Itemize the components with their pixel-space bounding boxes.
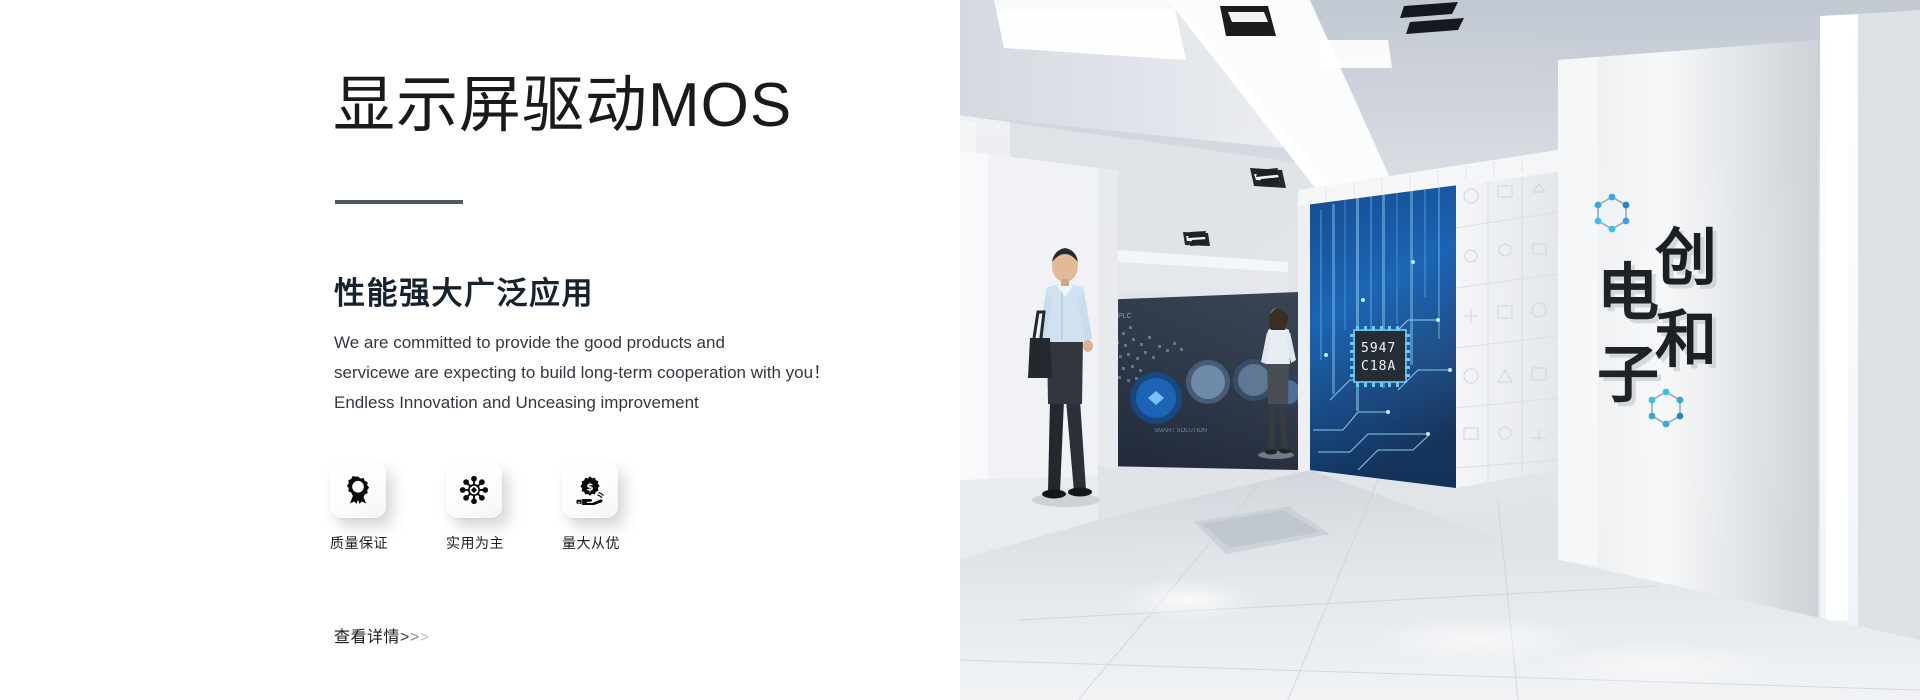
feature-badge[interactable]: $	[562, 462, 618, 518]
svg-text:$: $	[586, 481, 593, 493]
description-line-3: Endless Innovation and Unceasing improve…	[334, 388, 874, 418]
title-divider	[335, 200, 463, 204]
feature-label: 量大从优	[562, 533, 622, 553]
feature-item-quality[interactable]: 质量保证	[330, 462, 390, 553]
chevron-right-icon-2: >	[410, 629, 420, 647]
hand-holding-coin-icon: $	[575, 475, 605, 505]
award-ribbon-icon	[343, 475, 373, 505]
description-paragraph: We are committed to provide the good pro…	[334, 328, 874, 418]
feature-badge[interactable]	[446, 462, 502, 518]
subtitle: 性能强大广泛应用	[334, 268, 594, 313]
chevron-right-icon-3: >	[420, 629, 430, 647]
feature-item-practical[interactable]: 实用为主	[446, 462, 506, 553]
chevron-right-icon-1: >	[400, 629, 410, 647]
view-details-label: 查看详情	[334, 623, 400, 647]
description-line-1: We are committed to provide the good pro…	[334, 328, 874, 358]
feature-label: 质量保证	[330, 533, 390, 553]
feature-item-bulk-discount[interactable]: $ 量大从优	[562, 462, 622, 553]
description-line-2: servicewe are expecting to build long-te…	[334, 358, 874, 388]
view-details-link[interactable]: 查看详情 > > >	[334, 623, 430, 647]
text-panel: 显示屏驱动MOS 性能强大广泛应用 We are committed to pr…	[0, 0, 960, 700]
page-title: 显示屏驱动MOS	[333, 72, 792, 140]
showroom-interior-photo: PLC SMART SOLUTION	[958, 0, 1920, 700]
feature-list: 质量保证	[330, 462, 622, 553]
feature-label: 实用为主	[446, 533, 506, 553]
network-hub-icon	[459, 475, 489, 505]
hero-banner: PLC SMART SOLUTION	[0, 0, 1920, 700]
feature-badge[interactable]	[330, 462, 386, 518]
